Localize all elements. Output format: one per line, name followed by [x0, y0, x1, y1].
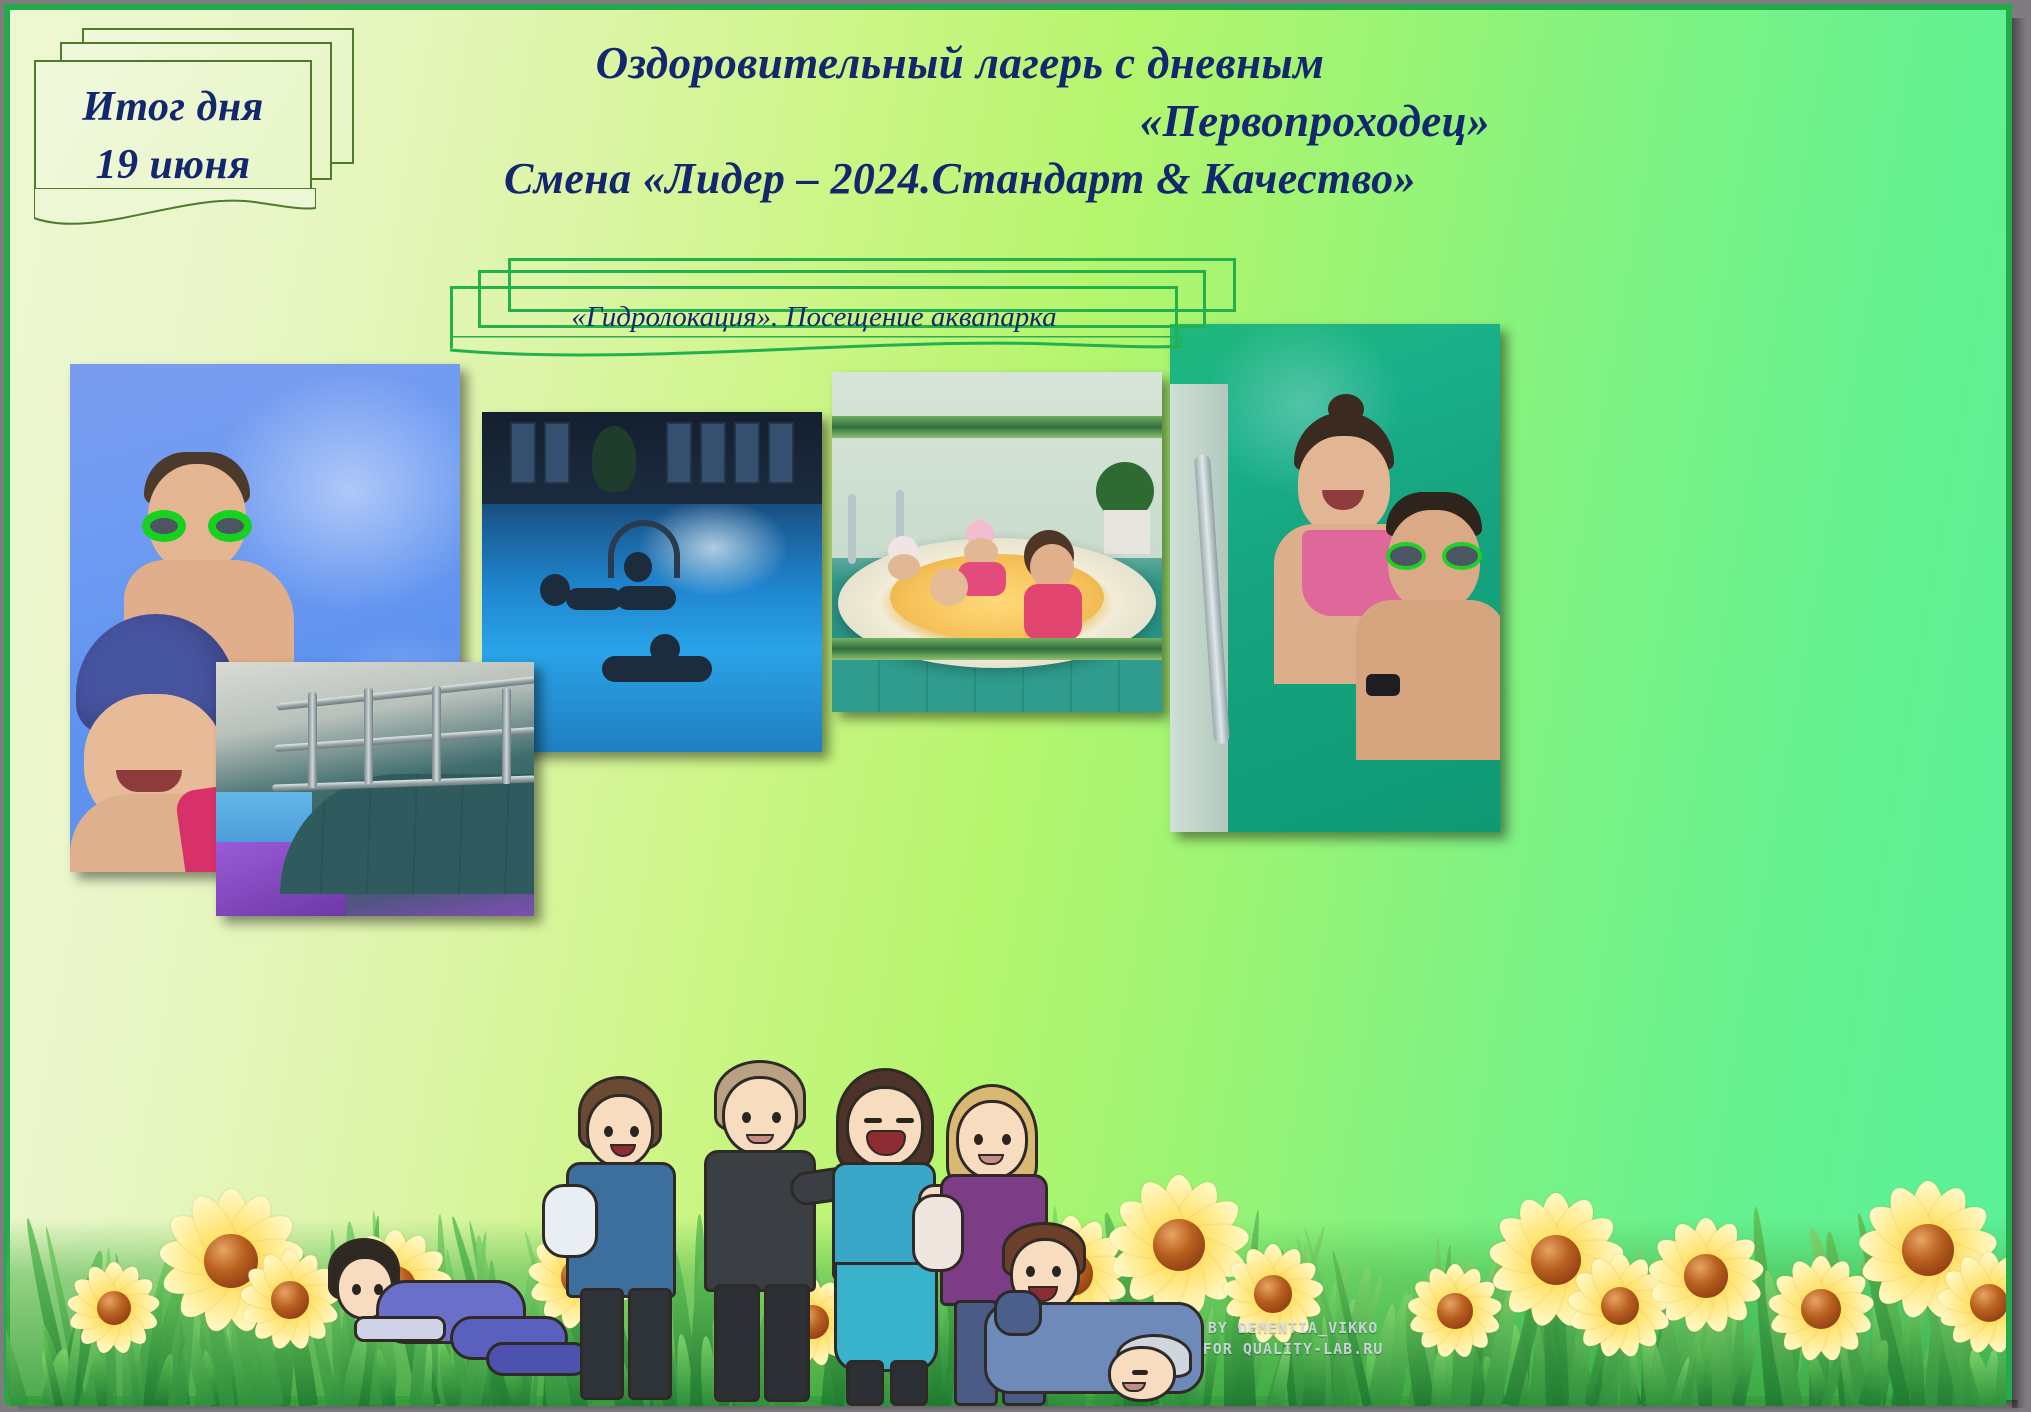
page-title: Оздоровительный лагерь с дневным «Первоп… — [400, 34, 1520, 208]
daisy-flower — [1221, 1242, 1325, 1346]
day-summary-line-2: 19 июня — [96, 141, 251, 189]
daisy-flower — [66, 1260, 162, 1356]
photo-waterslide-deck — [216, 662, 534, 916]
day-summary-card: Итог дня 19 июня — [22, 28, 362, 213]
photo-jacuzzi-girls — [832, 372, 1162, 712]
photo-green-water-pair — [1170, 324, 1500, 832]
daisy-flower — [1646, 1216, 1766, 1336]
day-summary-line-1: Итог дня — [82, 83, 264, 131]
page-title-line-1: Оздоровительный лагерь с дневным — [400, 34, 1520, 92]
daisy-flower — [1936, 1250, 2006, 1356]
subtitle-text: «Гидролокация». Посещение аквапарка — [450, 286, 1178, 348]
cartoon-children-illustration — [290, 1066, 1210, 1406]
page-title-line-2: «Первопроходец» — [400, 92, 1520, 150]
slide-canvas: BY DEMENTIA_VIKKO FOR QUALITY-LAB.RU Ито… — [0, 0, 2031, 1412]
frame-shadow-right — [2012, 18, 2026, 1408]
page-title-line-3: Смена «Лидер – 2024.Стандарт & Качество» — [400, 150, 1520, 208]
subtitle-card: «Гидролокация». Посещение аквапарка — [450, 258, 1240, 356]
